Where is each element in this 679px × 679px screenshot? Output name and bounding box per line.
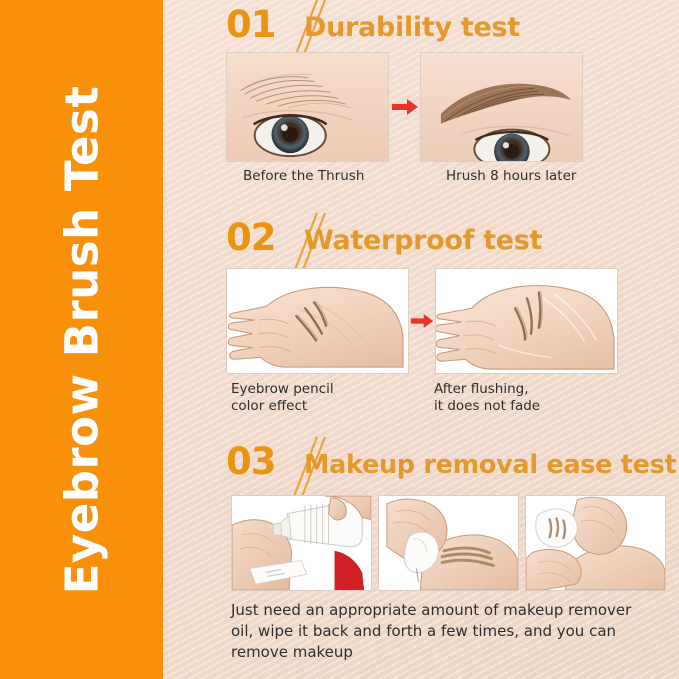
makeup-removal-instructions: Just need an appropriate amount of makeu… [231, 600, 671, 663]
section-02-number: 02 [226, 219, 276, 256]
section-03-heading: 03 Makeup removal ease test [163, 437, 679, 489]
section-03-title: Makeup removal ease test [304, 450, 676, 480]
eye-after-photo [420, 52, 583, 162]
content-area: 01 Durability test [163, 0, 679, 679]
section-01-number: 01 [226, 6, 276, 43]
removed-makeup-pad-photo [525, 495, 666, 591]
section-durability-test: 01 Durability test [163, 0, 679, 52]
section-03-body-text: Just need an appropriate amount of makeu… [231, 600, 671, 663]
section-03-photo-row [231, 495, 666, 591]
infographic-page: Eyebrow Brush Test 01 Durability test [0, 0, 679, 679]
sidebar-title: Eyebrow Brush Test [55, 85, 108, 594]
eye-before-photo [226, 52, 389, 162]
section-makeup-removal-test: 03 Makeup removal ease test [163, 437, 679, 489]
caption-after: Hrush 8 hours later [446, 168, 576, 185]
pour-remover-oil-photo [231, 495, 372, 591]
section-02-title: Waterproof test [304, 225, 542, 256]
hand-swatch-dry-photo [226, 268, 409, 374]
caption-pencil-color-effect: Eyebrow pencil color effect [231, 381, 334, 415]
wipe-hand-photo [378, 495, 519, 591]
arrow-right-icon [389, 52, 420, 162]
section-01-photo-row [226, 52, 583, 162]
section-01-title: Durability test [304, 12, 520, 43]
caption-before: Before the Thrush [243, 168, 364, 185]
section-02-heading: 02 Waterproof test [163, 213, 679, 265]
caption-after-flushing: After flushing, it does not fade [434, 381, 540, 415]
hand-swatch-wet-photo [435, 268, 618, 374]
section-waterproof-test: 02 Waterproof test [163, 213, 679, 265]
section-02-photo-row [226, 268, 618, 374]
section-01-heading: 01 Durability test [163, 0, 679, 52]
section-03-number: 03 [226, 443, 276, 480]
sidebar-banner: Eyebrow Brush Test [0, 0, 163, 679]
arrow-right-icon [409, 268, 435, 374]
